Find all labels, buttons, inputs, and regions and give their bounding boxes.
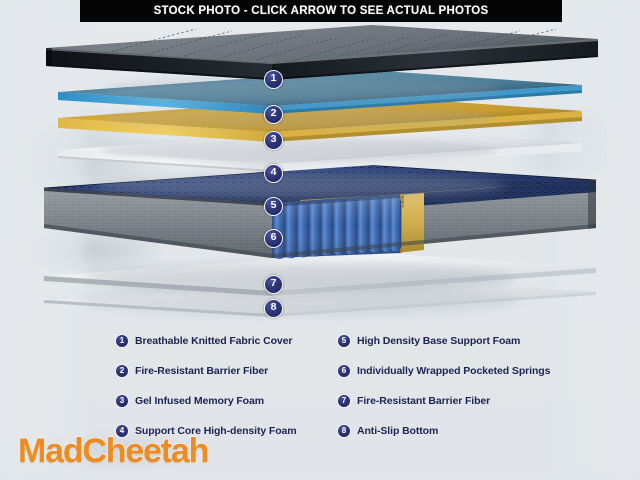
layer-legend: 1 Breathable Knitted Fabric Cover 2 Fire…	[0, 326, 640, 446]
stock-photo-banner: STOCK PHOTO - CLICK ARROW TO SEE ACTUAL …	[80, 0, 562, 22]
legend-right-column: 5 High Density Base Support Foam 6 Indiv…	[337, 326, 550, 446]
legend-label-3: Gel Infused Memory Foam	[135, 395, 264, 407]
legend-badge-3: 3	[115, 394, 129, 408]
legend-item-5[interactable]: 5 High Density Base Support Foam	[337, 326, 550, 356]
callout-badge-3[interactable]: 3	[264, 131, 283, 150]
callout-badge-5[interactable]: 5	[264, 197, 283, 216]
legend-badge-5: 5	[337, 334, 351, 348]
callout-badge-7[interactable]: 7	[264, 275, 283, 294]
madcheetah-watermark: MadCheetah	[18, 432, 208, 471]
legend-item-3[interactable]: 3 Gel Infused Memory Foam	[115, 386, 297, 416]
callout-badge-6[interactable]: 6	[264, 229, 283, 248]
legend-badge-1: 1	[115, 334, 129, 348]
legend-item-7[interactable]: 7 Fire-Resistant Barrier Fiber	[337, 386, 550, 416]
callout-badge-8[interactable]: 8	[264, 299, 283, 318]
legend-item-6[interactable]: 6 Individually Wrapped Pocketed Springs	[337, 356, 550, 386]
callout-badge-4[interactable]: 4	[264, 164, 283, 183]
banner-text: STOCK PHOTO - CLICK ARROW TO SEE ACTUAL …	[154, 5, 489, 17]
callout-badge-1[interactable]: 1	[264, 70, 283, 89]
legend-badge-8: 8	[337, 424, 351, 438]
legend-badge-2: 2	[115, 364, 129, 378]
legend-label-8: Anti-Slip Bottom	[357, 425, 438, 437]
mattress-layers-illustration	[0, 0, 640, 330]
legend-item-1[interactable]: 1 Breathable Knitted Fabric Cover	[115, 326, 297, 356]
stock-photo-viewer: STOCK PHOTO - CLICK ARROW TO SEE ACTUAL …	[0, 0, 640, 480]
legend-item-2[interactable]: 2 Fire-Resistant Barrier Fiber	[115, 356, 297, 386]
legend-label-7: Fire-Resistant Barrier Fiber	[357, 395, 490, 407]
legend-label-5: High Density Base Support Foam	[357, 335, 520, 347]
legend-left-column: 1 Breathable Knitted Fabric Cover 2 Fire…	[115, 326, 297, 446]
callout-badge-2[interactable]: 2	[264, 105, 283, 124]
legend-item-8[interactable]: 8 Anti-Slip Bottom	[337, 416, 550, 446]
legend-label-6: Individually Wrapped Pocketed Springs	[357, 365, 550, 377]
legend-badge-7: 7	[337, 394, 351, 408]
legend-label-1: Breathable Knitted Fabric Cover	[135, 335, 292, 347]
legend-label-2: Fire-Resistant Barrier Fiber	[135, 365, 268, 377]
legend-badge-6: 6	[337, 364, 351, 378]
